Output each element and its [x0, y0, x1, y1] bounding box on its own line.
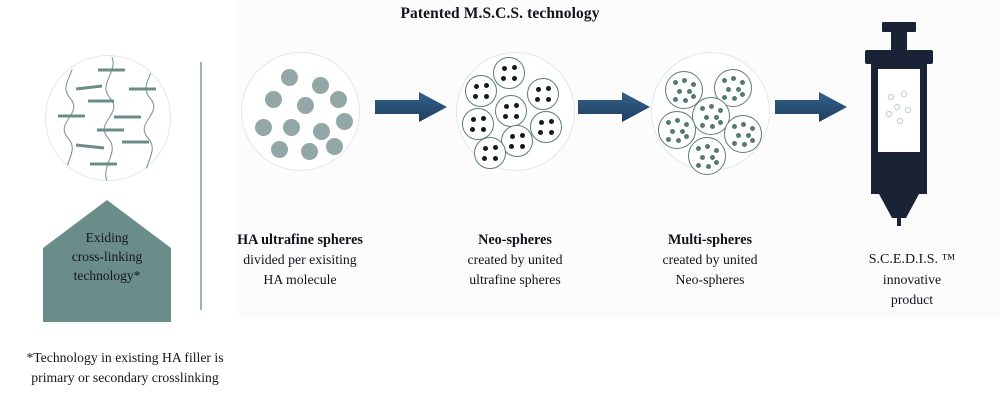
- diagram-canvas: Patented M.S.C.S. technology: [0, 0, 1000, 416]
- caption-sub-line2: HA molecule: [200, 270, 400, 290]
- caption-heading: Neo-spheres: [415, 230, 615, 250]
- ultrafine-spheres-circle-icon: [241, 52, 360, 171]
- caption-heading: S.C.E.D.I.S. ™: [812, 250, 1000, 270]
- caption-sub-line1: innovative: [812, 270, 1000, 290]
- caption-sub-line2: Neo-spheres: [610, 270, 810, 290]
- caption-sub-line2: product: [812, 290, 1000, 310]
- neo-spheres-circle-icon: [456, 52, 575, 171]
- footnote-text: *Technology in existing HA filler is pri…: [5, 348, 245, 388]
- caption-neo-spheres: Neo-spheres created by united ultrafine …: [415, 230, 615, 289]
- caption-sub-line1: created by united: [610, 250, 810, 270]
- caption-scedis-product: S.C.E.D.I.S. ™ innovative product: [812, 250, 1000, 309]
- arrow-step1-to-step2: [375, 92, 447, 122]
- syringe-icon: [845, 22, 953, 226]
- caption-heading: Multi-spheres: [610, 230, 810, 250]
- multi-spheres-circle-icon: [651, 52, 770, 171]
- existing-label-line1: Exiding: [86, 230, 129, 245]
- page-title: Patented M.S.C.S. technology: [0, 5, 1000, 23]
- arrow-step2-to-step3: [578, 92, 650, 122]
- caption-sub-line2: ultrafine spheres: [415, 270, 615, 290]
- caption-ultrafine-spheres: HA ultrafine spheres divided per exisiti…: [200, 230, 400, 289]
- existing-label-line2: cross-linking: [72, 249, 143, 264]
- existing-technology-label: Exiding cross-linking technology*: [43, 228, 171, 285]
- caption-sub-line1: divided per exisiting: [200, 250, 400, 270]
- caption-sub-line1: created by united: [415, 250, 615, 270]
- crosslinked-polymer-circle-icon: [45, 55, 171, 181]
- existing-label-line3: technology*: [74, 268, 141, 283]
- caption-multi-spheres: Multi-spheres created by united Neo-sphe…: [610, 230, 810, 289]
- arrow-step3-to-step4: [775, 92, 847, 122]
- caption-heading: HA ultrafine spheres: [200, 230, 400, 250]
